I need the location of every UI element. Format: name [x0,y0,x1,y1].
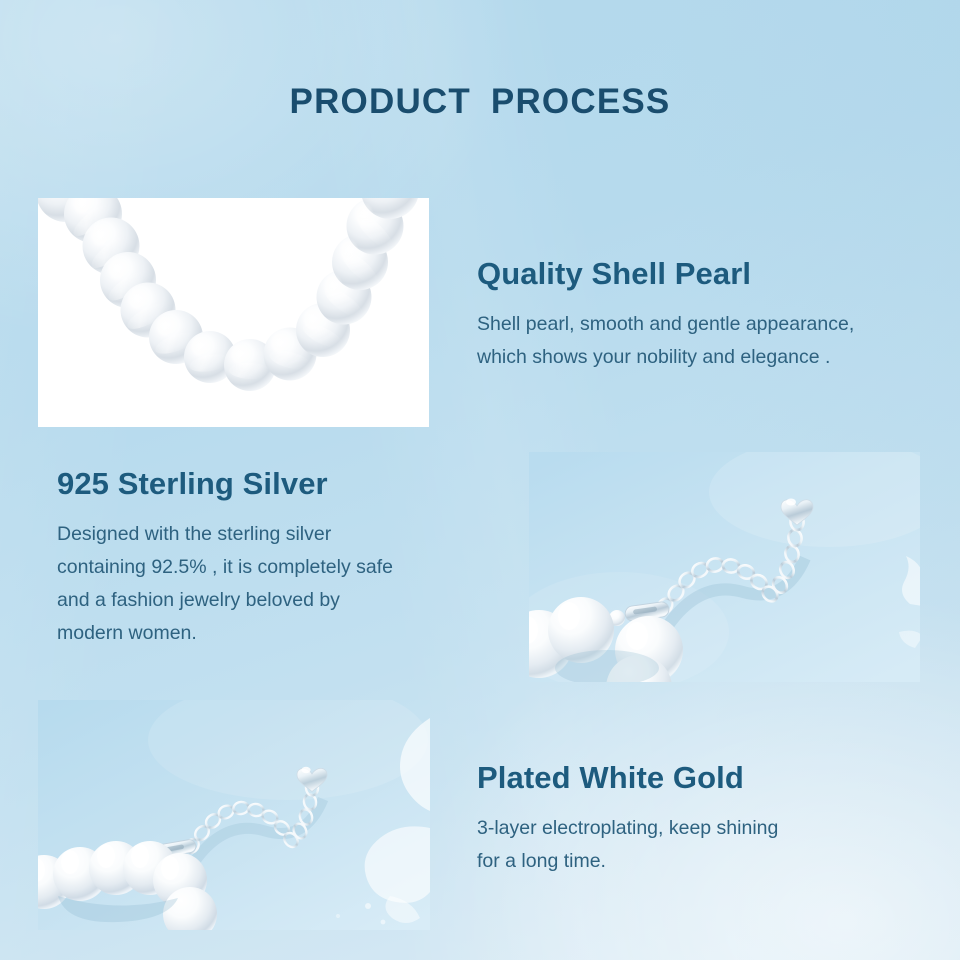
section-heading-sterling-silver: 925 Sterling Silver [57,466,477,502]
page-title: PRODUCT PROCESS [0,82,960,122]
silver-clasp-photo [529,452,920,682]
section-body-line: and a fashion jewelry beloved by [57,589,340,611]
product-process-infographic: PRODUCT PROCESS [0,0,960,960]
section-body-line: Designed with the sterling silver [57,523,331,545]
section-sterling-silver: 925 Sterling Silver Designed with the st… [57,466,477,650]
section-shell-pearl: Quality Shell Pearl Shell pearl, smooth … [477,256,947,374]
section-body-line: for a long time. [477,850,606,872]
section-body-line: modern women. [57,622,197,644]
section-body-line: Shell pearl, smooth and gentle appearanc… [477,313,854,335]
section-body-shell-pearl: Shell pearl, smooth and gentle appearanc… [477,308,947,374]
section-body-sterling-silver: Designed with the sterling silvercontain… [57,518,477,650]
section-plated-white-gold: Plated White Gold 3-layer electroplating… [477,760,907,878]
pearl-necklace-photo [38,198,429,427]
section-body-plated-white-gold: 3-layer electroplating, keep shiningfor … [477,812,907,878]
section-heading-plated-white-gold: Plated White Gold [477,760,907,796]
section-heading-shell-pearl: Quality Shell Pearl [477,256,947,292]
white-gold-clasp-photo [38,700,430,930]
section-body-line: 3-layer electroplating, keep shining [477,817,778,839]
section-body-line: containing 92.5% , it is completely safe [57,556,393,578]
section-body-line: which shows your nobility and elegance . [477,346,830,368]
